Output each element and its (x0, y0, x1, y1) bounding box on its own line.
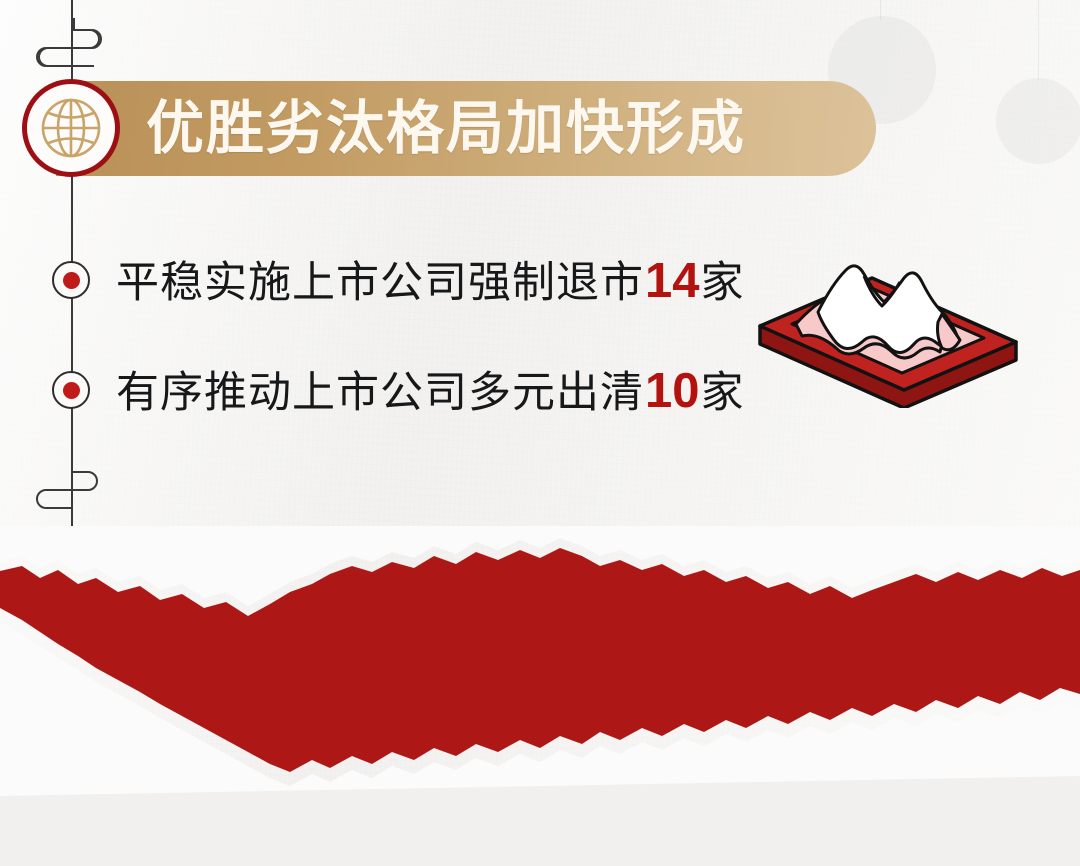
coil-ornament-bottom (22, 458, 122, 516)
infographic-canvas: 优胜劣汰格局加快形成 平稳实施上市公司强制退市14家 有序推动上市公司多元出清1… (0, 0, 1080, 866)
watermark-string-right (1038, 0, 1039, 80)
coil-ornament-top (22, 18, 122, 70)
timeline-marker-2 (52, 371, 90, 409)
bullet-2-suffix: 家 (701, 369, 745, 417)
watermark-circle-small (996, 78, 1080, 164)
globe-icon (22, 79, 120, 177)
bullet-2-prefix: 有序推动上市公司多元出清 (116, 369, 644, 417)
red-tray-mountains-illustration (752, 248, 1024, 408)
timeline-marker-dot (63, 382, 80, 399)
bullet-1-suffix: 家 (701, 259, 745, 307)
bullet-item-2: 有序推动上市公司多元出清10家 (116, 367, 745, 416)
torn-paper-bottom-decoration (0, 526, 1080, 866)
bullet-1-prefix: 平稳实施上市公司强制退市 (116, 259, 644, 307)
page-title: 优胜劣汰格局加快形成 (146, 100, 746, 158)
timeline-marker-1 (52, 261, 90, 299)
watermark-string-left (880, 0, 881, 20)
bullet-2-number: 10 (644, 364, 701, 418)
bullet-item-1: 平稳实施上市公司强制退市14家 (116, 257, 745, 306)
timeline-marker-dot (63, 272, 80, 289)
bullet-1-number: 14 (644, 254, 701, 308)
title-banner: 优胜劣汰格局加快形成 (56, 81, 876, 176)
